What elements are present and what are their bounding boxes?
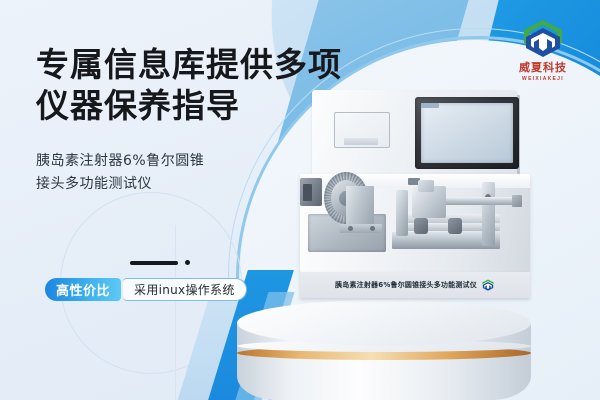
dial-mount-bracket xyxy=(346,186,374,228)
horizontal-bar-icon xyxy=(130,261,178,265)
hexagon-arrow-logo-icon xyxy=(481,278,495,292)
promo-banner: 威夏科技 WEIXIAKEJI 专属信息库提供多项 仪器保养指导 胰岛素注射器6… xyxy=(0,0,600,400)
adjust-knob-left[interactable] xyxy=(414,218,428,234)
decorative-divider xyxy=(130,260,190,265)
hmi-brand-tag xyxy=(421,103,439,108)
dial-bolt-left xyxy=(348,226,353,231)
machine-back-panel xyxy=(312,90,517,178)
shaft-end-tip xyxy=(512,195,522,207)
brand-name-en: WEIXIAKEJI xyxy=(500,76,586,82)
badge-primary[interactable]: 高性价比 xyxy=(45,278,121,301)
clamp-top-cap xyxy=(418,180,434,192)
headline-line-2: 仪器保养指导 xyxy=(36,85,336,126)
product-caption-text: 胰岛素注射器6%鲁尔圆锥接头多功能测试仪 xyxy=(335,280,477,290)
hexagon-arrow-logo-icon xyxy=(500,18,586,58)
dial-bolt-right xyxy=(370,226,375,231)
product-caption-strip: 胰岛素注射器6%鲁尔圆锥接头多功能测试仪 xyxy=(300,272,530,298)
product-pedestal xyxy=(237,300,531,400)
brand-logo: 威夏科技 WEIXIAKEJI xyxy=(500,18,586,82)
dial-mount-foot xyxy=(340,224,382,233)
badge-secondary[interactable]: 采用inux操作系统 xyxy=(123,278,247,301)
headline: 专属信息库提供多项 仪器保养指导 xyxy=(36,44,336,126)
rail-upright-post xyxy=(482,182,495,246)
clamp-left-post xyxy=(396,190,408,236)
headline-line-1: 专属信息库提供多项 xyxy=(36,44,336,85)
subtitle-line-2: 接头多功能测试仪 xyxy=(36,173,261,196)
subtitle: 胰岛素注射器6%鲁尔圆锥 接头多功能测试仪 xyxy=(36,150,261,196)
background-ghost-line xyxy=(175,225,176,400)
hmi-screen-surface xyxy=(421,103,513,163)
machine-plate-base xyxy=(344,138,378,145)
dot-icon xyxy=(185,260,190,265)
pedestal-top-surface xyxy=(237,300,531,346)
subtitle-line-1: 胰岛素注射器6%鲁尔圆锥 xyxy=(36,150,261,173)
adjust-knob-right[interactable] xyxy=(448,218,462,234)
brand-name-cn: 威夏科技 xyxy=(500,59,586,75)
product-machine: 胰岛素注射器6%鲁尔圆锥接头多功能测试仪 xyxy=(300,90,530,305)
dial-side-insert xyxy=(303,184,312,201)
horizontal-shaft xyxy=(434,197,520,205)
feature-badges: 高性价比 采用inux操作系统 xyxy=(45,278,247,301)
